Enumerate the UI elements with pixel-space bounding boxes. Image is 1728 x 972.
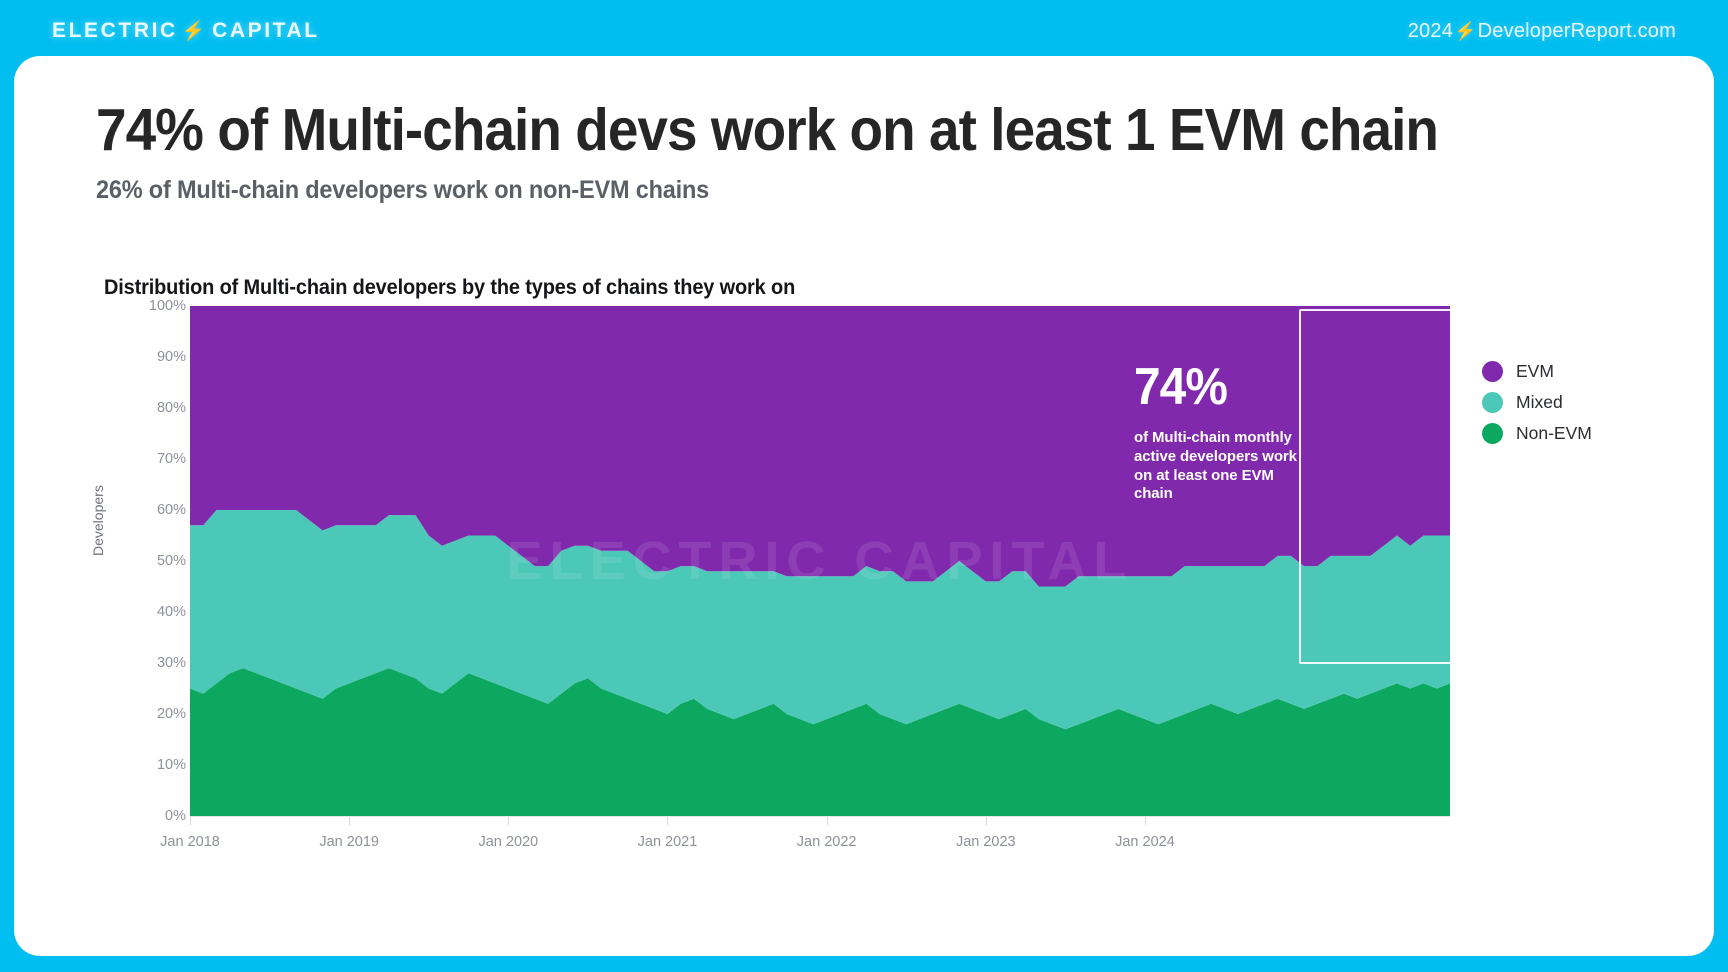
x-axis-tick-mark (190, 816, 191, 825)
x-axis-tick-mark (827, 816, 828, 825)
y-axis-tick-label: 80% (116, 400, 186, 416)
x-axis-tick-mark (1145, 816, 1146, 825)
content-card: 74% of Multi-chain devs work on at least… (14, 56, 1714, 956)
electric-capital-logo: ELECTRIC ⚡ CAPITAL (52, 19, 320, 43)
top-bar: ELECTRIC ⚡ CAPITAL 2024 ⚡ DeveloperRepor… (0, 0, 1728, 62)
y-axis-tick-label: 0% (116, 808, 186, 824)
y-axis-tick-label: 30% (116, 655, 186, 671)
legend-item-mixed[interactable]: Mixed (1482, 387, 1592, 418)
brand-name-second: CAPITAL (212, 19, 320, 43)
chart-caption: Distribution of Multi-chain developers b… (104, 276, 795, 300)
x-axis-tick-label: Jan 2022 (797, 834, 857, 850)
chart-legend: EVMMixedNon-EVM (1482, 356, 1592, 449)
y-axis-tick-label: 50% (116, 553, 186, 569)
y-axis-tick-label: 10% (116, 757, 186, 773)
report-year: 2024 (1408, 20, 1453, 43)
bolt-icon: ⚡ (180, 19, 210, 43)
x-axis-tick-mark (349, 816, 350, 825)
x-axis-tick-label: Jan 2024 (1115, 834, 1175, 850)
legend-item-non-evm[interactable]: Non-EVM (1482, 418, 1592, 449)
x-axis-tick-mark (508, 816, 509, 825)
legend-item-label: Mixed (1516, 392, 1563, 413)
y-axis-tick-label: 40% (116, 604, 186, 620)
page-subtitle: 26% of Multi-chain developers work on no… (96, 176, 709, 205)
x-axis-tick-mark (667, 816, 668, 825)
legend-item-label: EVM (1516, 361, 1554, 382)
legend-item-label: Non-EVM (1516, 423, 1592, 444)
y-axis-tick-label: 100% (116, 298, 186, 314)
report-site: DeveloperReport.com (1478, 20, 1676, 43)
y-axis-tick-label: 70% (116, 451, 186, 467)
y-axis-tick-label: 60% (116, 502, 186, 518)
x-axis-tick-label: Jan 2019 (319, 834, 379, 850)
legend-color-swatch-icon (1482, 361, 1503, 382)
y-axis-tick-label: 90% (116, 349, 186, 365)
x-axis-tick-label: Jan 2020 (478, 834, 538, 850)
x-axis-tick-label: Jan 2018 (160, 834, 220, 850)
chart-area: Developers 100%90%80%70%60%50%40%30%20%1… (94, 306, 1574, 866)
x-axis-tick-mark (986, 816, 987, 825)
legend-color-swatch-icon (1482, 392, 1503, 413)
y-axis-ticks: 100%90%80%70%60%50%40%30%20%10%0% (94, 306, 186, 816)
brand-name-first: ELECTRIC (52, 19, 178, 43)
page-title: 74% of Multi-chain devs work on at least… (96, 96, 1438, 164)
x-axis-tick-label: Jan 2021 (638, 834, 698, 850)
legend-item-evm[interactable]: EVM (1482, 356, 1592, 387)
bolt-icon: ⚡ (1453, 21, 1478, 42)
x-axis-line (190, 816, 1450, 817)
x-axis-tick-label: Jan 2023 (956, 834, 1016, 850)
y-axis-tick-label: 20% (116, 706, 186, 722)
legend-color-swatch-icon (1482, 423, 1503, 444)
developer-report-link[interactable]: 2024 ⚡ DeveloperReport.com (1408, 20, 1676, 43)
stacked-area-chart (190, 306, 1450, 816)
slide-root: ELECTRIC ⚡ CAPITAL 2024 ⚡ DeveloperRepor… (0, 0, 1728, 972)
